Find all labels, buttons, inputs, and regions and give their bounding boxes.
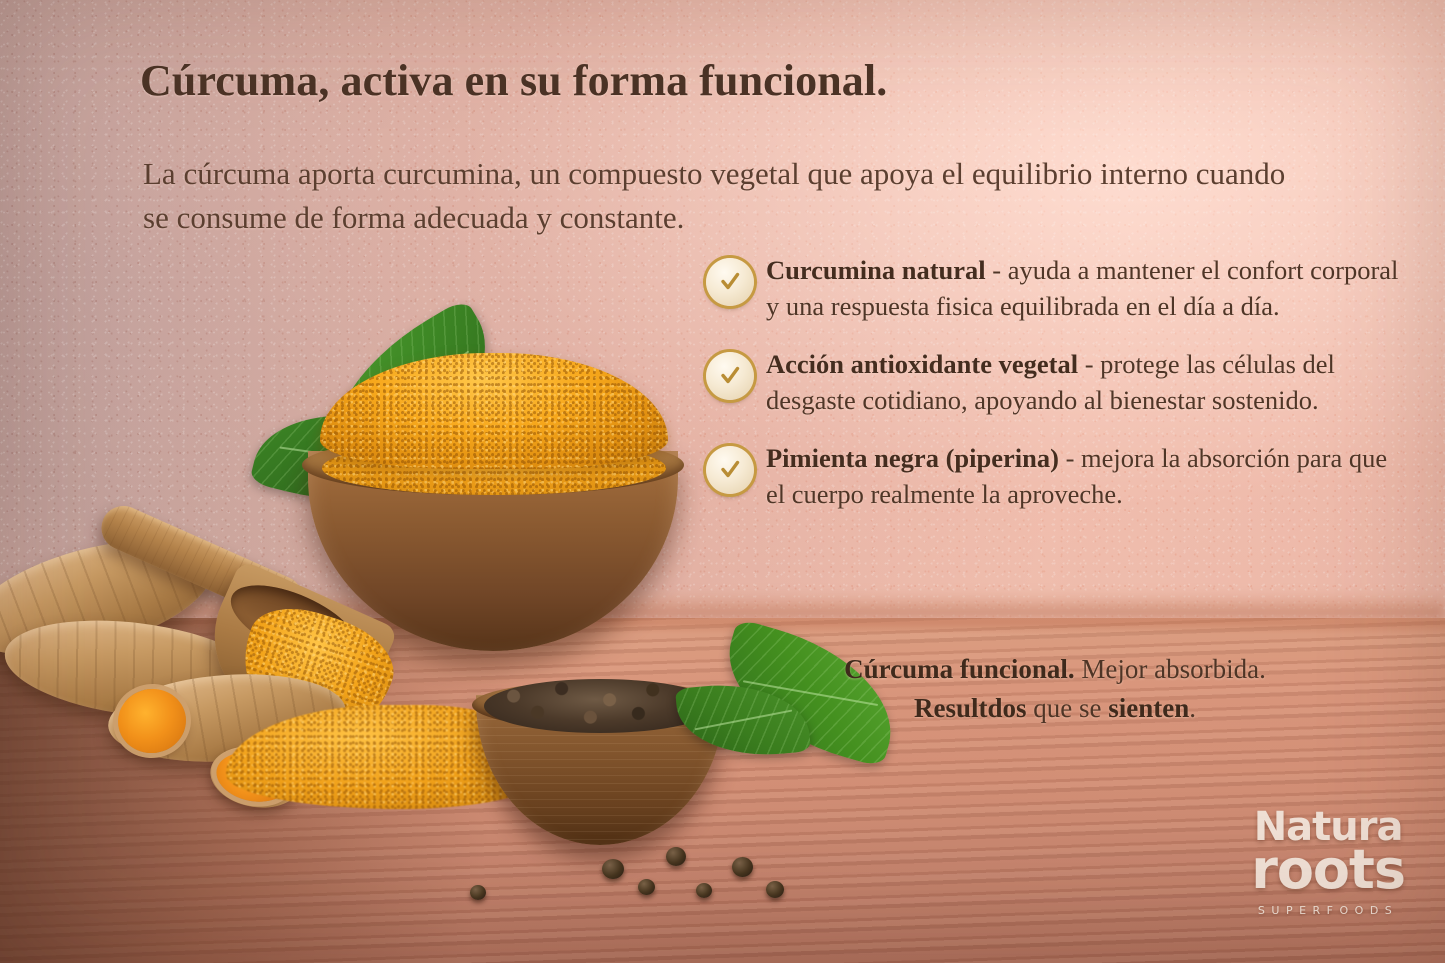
benefit-heading: Acción antioxidante vegetal	[766, 349, 1078, 379]
benefit-separator: -	[986, 255, 1008, 285]
loose-peppercorn	[732, 857, 753, 877]
tagline-bold-1: Cúrcuma funcional.	[844, 654, 1075, 684]
leaf-vein	[694, 710, 791, 731]
benefit-heading: Pimienta negra (piperina)	[766, 443, 1059, 473]
check-circle-icon	[706, 352, 754, 400]
benefits-list: Curcumina natural - ayuda a mantener el …	[706, 252, 1406, 534]
check-circle-icon	[706, 446, 754, 494]
page-subtitle: La cúrcuma aporta curcumina, un compuest…	[143, 152, 1303, 240]
tagline-end-2: .	[1189, 693, 1196, 723]
check-circle-icon	[706, 258, 754, 306]
logo-line-roots: roots	[1251, 845, 1405, 895]
benefit-text: Pimienta negra (piperina) - mejora la ab…	[766, 440, 1406, 512]
loose-peppercorn	[766, 881, 784, 898]
tagline-mid-2: que se	[1027, 693, 1109, 723]
benefit-separator: -	[1078, 349, 1100, 379]
loose-peppercorn	[602, 859, 624, 879]
list-item: Acción antioxidante vegetal - protege la…	[706, 346, 1406, 418]
loose-peppercorn	[638, 879, 655, 895]
loose-peppercorn	[666, 847, 686, 866]
benefit-text: Acción antioxidante vegetal - protege la…	[766, 346, 1406, 418]
loose-peppercorn	[696, 883, 712, 898]
tagline-bold-3: sienten	[1108, 693, 1189, 723]
turmeric-promo-poster: Cúrcuma, activa en su forma funcional. L…	[0, 0, 1445, 963]
page-title: Cúrcuma, activa en su forma funcional.	[140, 55, 887, 106]
list-item: Curcumina natural - ayuda a mantener el …	[706, 252, 1406, 324]
loose-peppercorn	[470, 885, 486, 900]
benefit-separator: -	[1059, 443, 1081, 473]
tagline-bold-2: Resultdos	[914, 693, 1027, 723]
closing-tagline: Cúrcuma funcional. Mejor absorbida. Resu…	[795, 650, 1315, 728]
list-item: Pimienta negra (piperina) - mejora la ab…	[706, 440, 1406, 512]
brand-logo: Natura roots SUPERFOODS	[1251, 809, 1405, 917]
tagline-rest-1: Mejor absorbida.	[1075, 654, 1266, 684]
benefit-text: Curcumina natural - ayuda a mantener el …	[766, 252, 1406, 324]
logo-tagline-superfoods: SUPERFOODS	[1251, 904, 1405, 917]
benefit-heading: Curcumina natural	[766, 255, 986, 285]
